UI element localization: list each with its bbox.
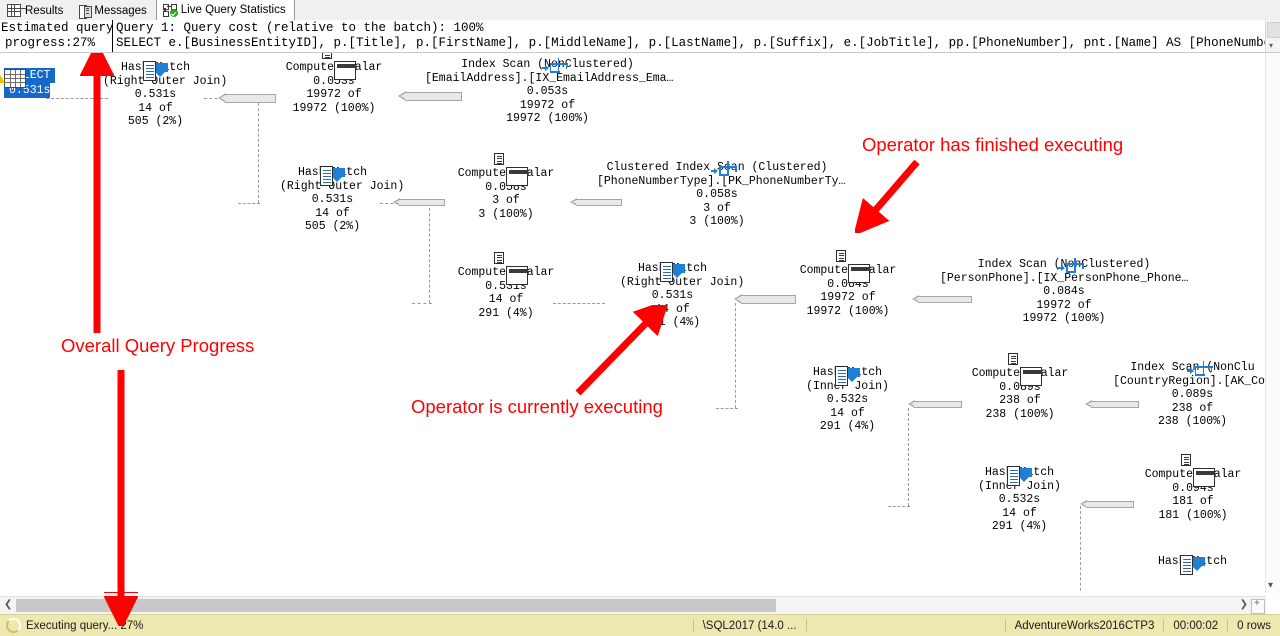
estimated-query-progress-box: Estimated query progress:27% [0,20,113,52]
operator-rows: 181 of [1140,495,1246,509]
dashed-connector [258,98,259,203]
operator-time: 0.532s [967,493,1072,507]
operator-node-hash-match-2[interactable]: Hash Match (Right Outer Join) 0.531s 14 … [280,166,385,234]
operator-node-compute-scalar-2[interactable]: Compute Scalar 0.058s 3 of 3 (100%) [453,167,559,221]
operator-node-hash-match-3[interactable]: Hash Match (Right Outer Join) 0.531s 14 … [620,262,725,330]
operator-rows: 14 of [795,407,900,421]
operator-node-compute-scalar-3[interactable]: Compute Scalar 0.531s 14 of 291 (4%) [453,266,559,320]
operator-rows: 14 of [280,207,385,221]
chevron-right-icon[interactable]: ❯ [1240,600,1248,610]
operator-total: 19972 (100%) [425,112,670,126]
operator-rows: 3 of [453,194,559,208]
annotation-operator-finished: Operator has finished executing [862,134,1123,156]
operator-rows: 19972 of [281,88,387,102]
operator-total: 3 (100%) [453,208,559,222]
query-sql-line: SELECT e.[BusinessEntityID], p.[Title], … [116,36,1266,51]
operator-time: 0.084s [940,285,1188,299]
operator-object: [CountryRegion].[AK_Cou [1110,375,1266,389]
operator-total: 238 (100%) [1110,415,1266,429]
operator-node-compute-scalar-4[interactable]: Compute Scalar 0.084s 19972 of 19972 (10… [795,264,901,318]
tab-live-query-statistics-label: Live Query Statistics [181,4,286,16]
chevron-down-icon[interactable]: ▾ [1269,42,1273,50]
operator-total: 181 (100%) [1140,509,1246,523]
operator-total: 505 (2%) [103,115,208,129]
status-elapsed: 00:00:02 [1163,619,1227,632]
dashed-connector [716,408,738,409]
operator-node-compute-scalar-1[interactable]: Compute Scalar 0.053s 19972 of 19972 (10… [281,61,387,115]
tab-messages-label: Messages [94,5,146,17]
operator-rows: 14 of [103,102,208,116]
tab-messages[interactable]: Messages [72,0,155,20]
operator-node-compute-scalar-5[interactable]: Compute Scalar 0.089s 238 of 238 (100%) [967,367,1073,421]
live-query-statistics-icon [163,4,177,16]
operator-object: [PhoneNumberType].[PK_PhoneNumberTy… [597,175,837,189]
query-text-scrollbar[interactable]: ▾ [1265,20,1280,52]
operator-node-hash-match-4[interactable]: Hash Match (Inner Join) 0.532s 14 of 291… [795,366,900,434]
operator-node-hash-match-5[interactable]: Hash Match (Inner Join) 0.532s 14 of 291… [967,466,1072,534]
plan-horizontal-scrollbar-thumb[interactable] [16,599,776,612]
status-database: AdventureWorks2016CTP3 [1005,619,1164,632]
data-flow-arrow [218,94,276,103]
query-plan-header: Estimated query progress:27% Query 1: Qu… [0,20,1280,53]
operator-node-index-scan-1[interactable]: Index Scan (NonClustered) [EmailAddress]… [425,58,670,126]
results-pane-tabstrip: Results Messages Live Query Statistics [0,0,1280,21]
query-text-scrollbar-thumb[interactable] [1267,22,1280,38]
operator-node-compute-scalar-6[interactable]: Compute Scalar 0.094s 181 of 181 (100%) [1140,468,1246,522]
status-user [806,619,1005,632]
annotation-operator-executing: Operator is currently executing [411,396,663,418]
operator-total: 19972 (100%) [281,102,387,116]
operator-total: 505 (2%) [280,220,385,234]
operator-node-hash-match-6[interactable]: Hash Match [1140,555,1245,569]
operator-time: 0.532s [795,393,900,407]
operator-total: 291 (4%) [967,520,1072,534]
operator-object: [EmailAddress].[IX_EmailAddress_Ema… [425,72,670,86]
operator-rows: 238 of [1110,402,1266,416]
estimated-progress-line2: progress:27% [0,36,112,51]
data-flow-arrow [1080,501,1134,508]
tab-live-query-statistics[interactable]: Live Query Statistics [156,0,295,20]
data-flow-arrow [908,401,962,408]
operator-total: 291 (4%) [620,316,725,330]
status-message: Executing query... 27% [26,620,143,632]
tab-results[interactable]: Results [0,0,72,20]
dashed-connector [238,203,260,204]
estimated-progress-line1: Estimated query [0,21,112,36]
operator-rows: 14 of [620,303,725,317]
query-cost-line: Query 1: Query cost (relative to the bat… [116,21,1266,36]
operator-name: Index Scan (NonClu [1110,361,1266,375]
plan-vertical-scrollbar[interactable]: ▾ [1265,53,1280,593]
tab-results-label: Results [25,5,63,17]
select-node[interactable]: SELECT 0.531s [4,68,50,98]
message-icon [79,5,90,17]
dashed-connector [888,506,910,507]
warning-icon [0,73,5,83]
dashed-connector [553,303,605,304]
operator-time: 0.089s [1110,388,1266,402]
operator-total: 3 (100%) [597,215,837,229]
dashed-connector [735,303,736,408]
operator-rows: 14 of [453,293,559,307]
status-bar: Executing query... 27% \SQL2017 (14.0 ..… [0,614,1280,636]
dashed-connector [46,98,108,99]
plan-horizontal-scrollbar[interactable]: ❮ ❯ [0,596,1266,615]
execution-plan-canvas[interactable]: SELECT 0.531s Hash Match (Right Outer Jo… [0,53,1266,593]
operator-node-index-scan-2[interactable]: Index Scan (NonClustered) [PersonPhone].… [940,258,1188,326]
spinner-icon [6,618,21,633]
operator-object: [PersonPhone].[IX_PersonPhone_Phone… [940,272,1188,286]
dashed-connector [908,408,909,506]
operator-time: 0.531s [280,193,385,207]
annotation-arrow-finished [855,158,925,233]
operator-time: 0.053s [425,85,670,99]
operator-rows: 19972 of [940,299,1188,313]
resize-grip[interactable] [1251,599,1265,614]
status-server: \SQL2017 (14.0 ... [693,619,806,632]
query-cost-and-sql-text: Query 1: Query cost (relative to the bat… [116,20,1266,53]
grid-icon [7,4,21,17]
dashed-connector [429,203,430,303]
operator-total: 19972 (100%) [795,305,901,319]
operator-rows: 19972 of [425,99,670,113]
operator-total: 291 (4%) [453,307,559,321]
operator-rows: 3 of [597,202,837,216]
operator-total: 291 (4%) [795,420,900,434]
data-flow-arrow [734,295,796,304]
annotation-arrow-progress-down [104,368,138,593]
operator-node-index-scan-3[interactable]: Index Scan (NonClu [CountryRegion].[AK_C… [1110,361,1266,429]
operator-rows: 19972 of [795,291,901,305]
status-rows: 0 rows [1227,619,1280,632]
operator-total: 238 (100%) [967,408,1073,422]
annotation-overall-progress: Overall Query Progress [61,335,254,357]
chevron-down-icon[interactable]: ▾ [1268,581,1273,591]
chevron-left-icon[interactable]: ❮ [4,600,12,610]
data-flow-arrow [393,199,445,206]
operator-rows: 14 of [967,507,1072,521]
operator-time: 0.531s [620,289,725,303]
operator-node-hash-match-1[interactable]: Hash Match (Right Outer Join) 0.531s 14 … [103,61,208,129]
dashed-connector [1080,506,1081,593]
operator-time: 0.058s [597,188,837,202]
operator-node-clustered-index-scan-1[interactable]: Clustered Index Scan (Clustered) [PhoneN… [597,161,837,229]
dashed-connector [412,303,432,304]
operator-time: 0.531s [103,88,208,102]
operator-rows: 238 of [967,394,1073,408]
operator-total: 19972 (100%) [940,312,1188,326]
